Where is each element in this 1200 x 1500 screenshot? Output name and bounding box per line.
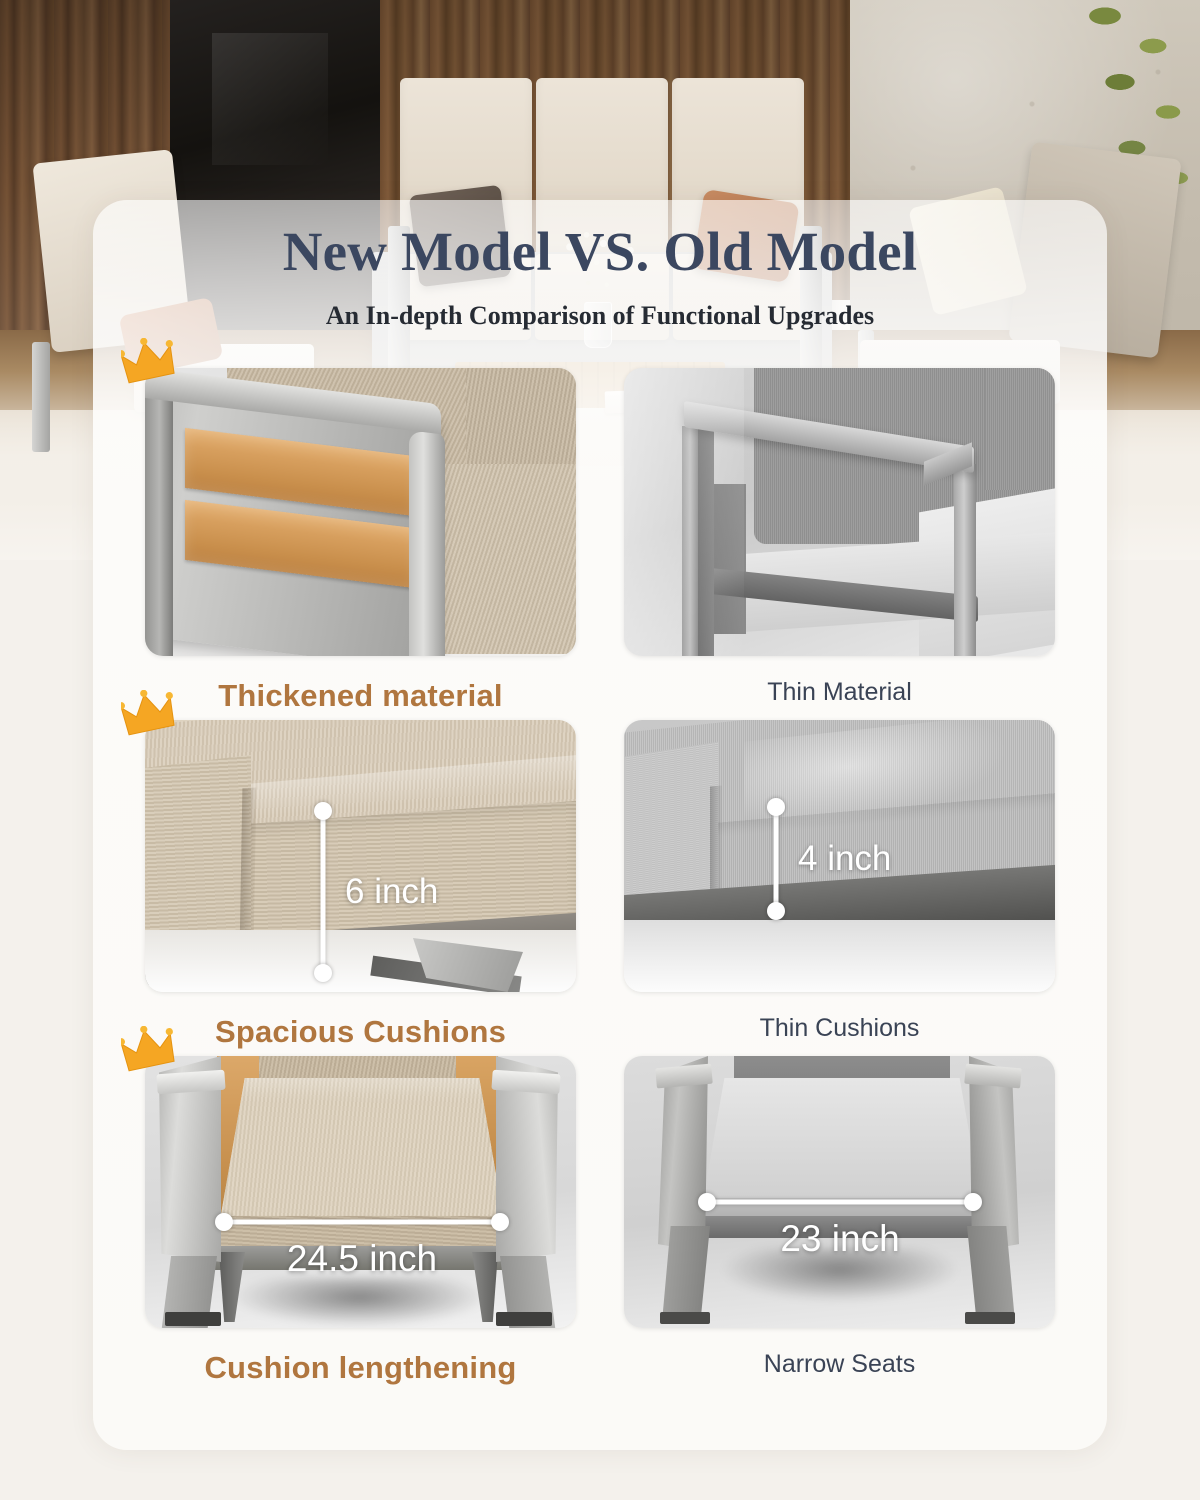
- measure-line: [221, 1220, 503, 1225]
- cell-new-seat-width: 24.5 inch Cushion lengthening: [145, 1056, 576, 1390]
- page-subtitle: An In-depth Comparison of Functional Upg…: [93, 279, 1107, 331]
- label-new-seat-width: Cushion lengthening: [145, 1328, 576, 1390]
- measure-endpoint-right: [491, 1213, 509, 1231]
- photo-old-thin-cushion: 4 inch: [624, 720, 1055, 992]
- crown-icon: [121, 690, 179, 736]
- measure-value: 23 inch: [780, 1218, 899, 1260]
- cell-old-seat-width: 23 inch Narrow Seats: [624, 1056, 1055, 1390]
- cell-old-cushions: 4 inch Thin Cushions: [624, 720, 1055, 1054]
- measure-endpoint-right: [964, 1193, 982, 1211]
- label-new-cushions: Spacious Cushions: [145, 992, 576, 1054]
- comparison-row-seat-width: 24.5 inch Cushion lengthening: [145, 1056, 1055, 1390]
- photo-new-seat-width: 24.5 inch: [145, 1056, 576, 1328]
- photo-new-thickened-material: [145, 368, 576, 656]
- label-new-material: Thickened material: [145, 656, 576, 718]
- measure-endpoint-left: [215, 1213, 233, 1231]
- label-old-seat-width: Narrow Seats: [624, 1328, 1055, 1390]
- photo-old-seat-width: 23 inch: [624, 1056, 1055, 1328]
- comparison-row-cushions: 6 inch Spacious Cushions: [145, 720, 1055, 1054]
- measure-value: 6 inch: [345, 872, 438, 912]
- measure-endpoint-top: [314, 802, 332, 820]
- measure-line: [321, 808, 326, 976]
- page-title: New Model VS. Old Model: [93, 200, 1107, 279]
- comparison-panel: New Model VS. Old Model An In-depth Comp…: [93, 200, 1107, 1450]
- measure-value: 4 inch: [798, 839, 891, 879]
- crown-icon: [121, 1026, 179, 1072]
- label-old-material: Thin Material: [624, 656, 1055, 718]
- cell-old-material: Thin Material: [624, 368, 1055, 718]
- photo-new-spacious-cushion: 6 inch: [145, 720, 576, 992]
- measure-line: [704, 1200, 976, 1205]
- measure-endpoint-bottom: [314, 964, 332, 982]
- cell-new-cushions: 6 inch Spacious Cushions: [145, 720, 576, 1054]
- comparison-row-material: Thickened material: [145, 368, 1055, 718]
- measure-endpoint-bottom: [767, 902, 785, 920]
- crown-icon: [121, 338, 179, 384]
- measure-endpoint-left: [698, 1193, 716, 1211]
- cell-new-material: Thickened material: [145, 368, 576, 718]
- photo-old-thin-material: [624, 368, 1055, 656]
- measure-line: [774, 804, 779, 914]
- label-old-cushions: Thin Cushions: [624, 992, 1055, 1054]
- infographic-stage: New Model VS. Old Model An In-depth Comp…: [0, 0, 1200, 1500]
- panel-header: New Model VS. Old Model An In-depth Comp…: [93, 200, 1107, 331]
- comparison-grid: Thickened material: [145, 368, 1055, 1392]
- measure-value: 24.5 inch: [287, 1238, 437, 1280]
- measure-endpoint-top: [767, 798, 785, 816]
